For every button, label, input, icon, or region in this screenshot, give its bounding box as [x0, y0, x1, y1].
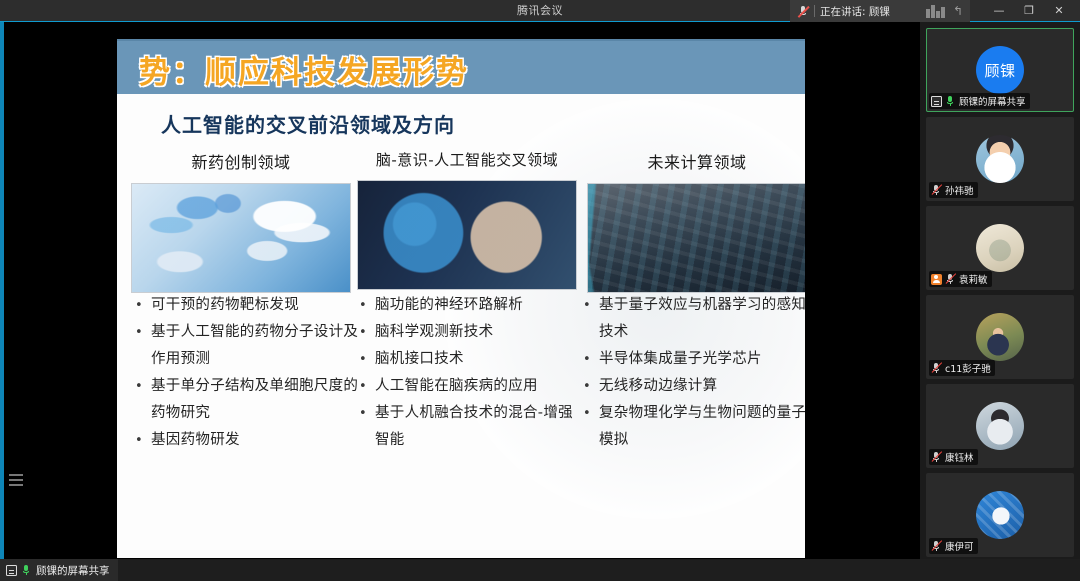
participant-tile[interactable]: 袁莉敏 [926, 206, 1074, 290]
bullet-list-column-1: 可干预的药物靶标发现基于人工智能的药物分子设计及作用预测基于单分子结构及单细胞尺… [131, 292, 363, 454]
column-heading: 未来计算领域 [587, 149, 805, 173]
participant-name-tag: c11彭子驰 [929, 360, 995, 376]
participant-tile[interactable]: c11彭子驰 [926, 295, 1074, 379]
mic-muted-icon [945, 274, 956, 285]
participant-name: c11彭子驰 [945, 361, 991, 375]
speaking-indicator: 正在讲话: 顾锞 ↰ [790, 0, 970, 22]
slide-column-3: 未来计算领域 [587, 149, 805, 293]
status-bar: 顾锞的屏幕共享 [0, 559, 1080, 581]
bullet-list-column-2: 脑功能的神经环路解析脑科学观测新技术脑机接口技术人工智能在脑疾病的应用基于人机融… [355, 292, 587, 454]
bullet-item: 复杂物理化学与生物问题的量子模拟 [579, 400, 805, 454]
ai-brain-profile-photo [357, 180, 577, 290]
participant-name-tag: 孙祎驰 [929, 182, 978, 198]
participant-name: 康钰林 [945, 450, 974, 464]
presentation-slide: 势：顺应科技发展形势 人工智能的交叉前沿领域及方向 新药创制领域 脑-意识-人工… [117, 39, 805, 558]
screen-share-icon [6, 565, 17, 576]
mic-on-icon [21, 565, 32, 576]
left-accent-rail [0, 22, 4, 559]
mic-muted-icon [931, 185, 942, 196]
close-button[interactable]: ✕ [1044, 0, 1074, 21]
status-bar-filler [118, 559, 1080, 581]
participant-tile[interactable]: 康钰林 [926, 384, 1074, 468]
mic-muted-icon [931, 452, 942, 463]
bullet-item: 人工智能在脑疾病的应用 [355, 373, 587, 400]
bullet-item: 基因药物研发 [131, 427, 363, 454]
slide-title: 势：顺应科技发展形势 [139, 47, 469, 92]
participant-tile[interactable]: 顾锞顾锞的屏幕共享 [926, 28, 1074, 112]
participant-name: 孙祎驰 [945, 183, 974, 197]
participant-name-tag: 康伊可 [929, 538, 978, 554]
meeting-window: 腾讯会议 正在讲话: 顾锞 ↰ — ❐ ✕ 势：顺应科技发展形势 人工智能的交叉… [0, 0, 1080, 581]
mic-muted-icon [931, 541, 942, 552]
drug-molecules-photo [131, 183, 351, 293]
speaking-label: 正在讲话: 顾锞 [820, 4, 890, 19]
participant-name: 顾锞的屏幕共享 [959, 94, 1026, 108]
slide-column-2: 脑-意识-人工智能交叉领域 [357, 149, 577, 290]
bullet-item: 基于人机融合技术的混合-增强智能 [355, 400, 587, 454]
bullet-item: 基于单分子结构及单细胞尺度的药物研究 [131, 373, 363, 427]
participant-name-tag: 袁莉敏 [929, 271, 992, 287]
slide-subtitle: 人工智能的交叉前沿领域及方向 [161, 109, 455, 138]
host-icon [931, 274, 942, 285]
avatar [976, 135, 1024, 183]
slide-banner-edge [117, 39, 805, 41]
maximize-button[interactable]: ❐ [1014, 0, 1044, 21]
avatar [976, 313, 1024, 361]
screen-share-icon [931, 96, 942, 107]
avatar [976, 402, 1024, 450]
avatar [976, 224, 1024, 272]
participant-tile[interactable]: 孙祎驰 [926, 117, 1074, 201]
mic-muted-icon [931, 363, 942, 374]
bullet-item: 脑机接口技术 [355, 346, 587, 373]
audio-wave-icon [926, 5, 945, 18]
minimize-button[interactable]: — [984, 0, 1014, 21]
future-computing-city-photo [587, 183, 805, 293]
avatar [976, 491, 1024, 539]
column-heading: 新药创制领域 [131, 149, 351, 173]
mic-on-icon [945, 96, 956, 107]
mic-muted-icon [797, 5, 809, 18]
share-status-text: 顾锞的屏幕共享 [36, 563, 110, 578]
divider [814, 5, 815, 17]
bullet-item: 脑功能的神经环路解析 [355, 292, 587, 319]
bullet-item: 可干预的药物靶标发现 [131, 292, 363, 319]
participants-list-icon[interactable] [6, 470, 24, 490]
participant-panel[interactable]: 顾锞顾锞的屏幕共享孙祎驰袁莉敏c11彭子驰康钰林康伊可 [920, 22, 1080, 559]
participant-tile[interactable]: 康伊可 [926, 473, 1074, 557]
participant-name-tag: 康钰林 [929, 449, 978, 465]
return-arrow-icon[interactable]: ↰ [953, 5, 963, 17]
title-bar: 腾讯会议 正在讲话: 顾锞 ↰ — ❐ ✕ [0, 0, 1080, 22]
screen-share-status: 顾锞的屏幕共享 [0, 559, 118, 581]
bullet-item: 脑科学观测新技术 [355, 319, 587, 346]
participant-name-tag: 顾锞的屏幕共享 [929, 93, 1030, 109]
bullet-item: 基于量子效应与机器学习的感知技术 [579, 292, 805, 346]
participant-name: 康伊可 [945, 539, 974, 553]
participant-name: 袁莉敏 [959, 272, 988, 286]
bullet-item: 半导体集成量子光学芯片 [579, 346, 805, 373]
bullet-item: 基于人工智能的药物分子设计及作用预测 [131, 319, 363, 373]
avatar: 顾锞 [976, 46, 1024, 94]
bullet-item: 无线移动边缘计算 [579, 373, 805, 400]
bullet-list-column-3: 基于量子效应与机器学习的感知技术半导体集成量子光学芯片无线移动边缘计算复杂物理化… [579, 292, 805, 454]
column-heading: 脑-意识-人工智能交叉领域 [357, 149, 577, 170]
slide-column-1: 新药创制领域 [131, 149, 351, 293]
